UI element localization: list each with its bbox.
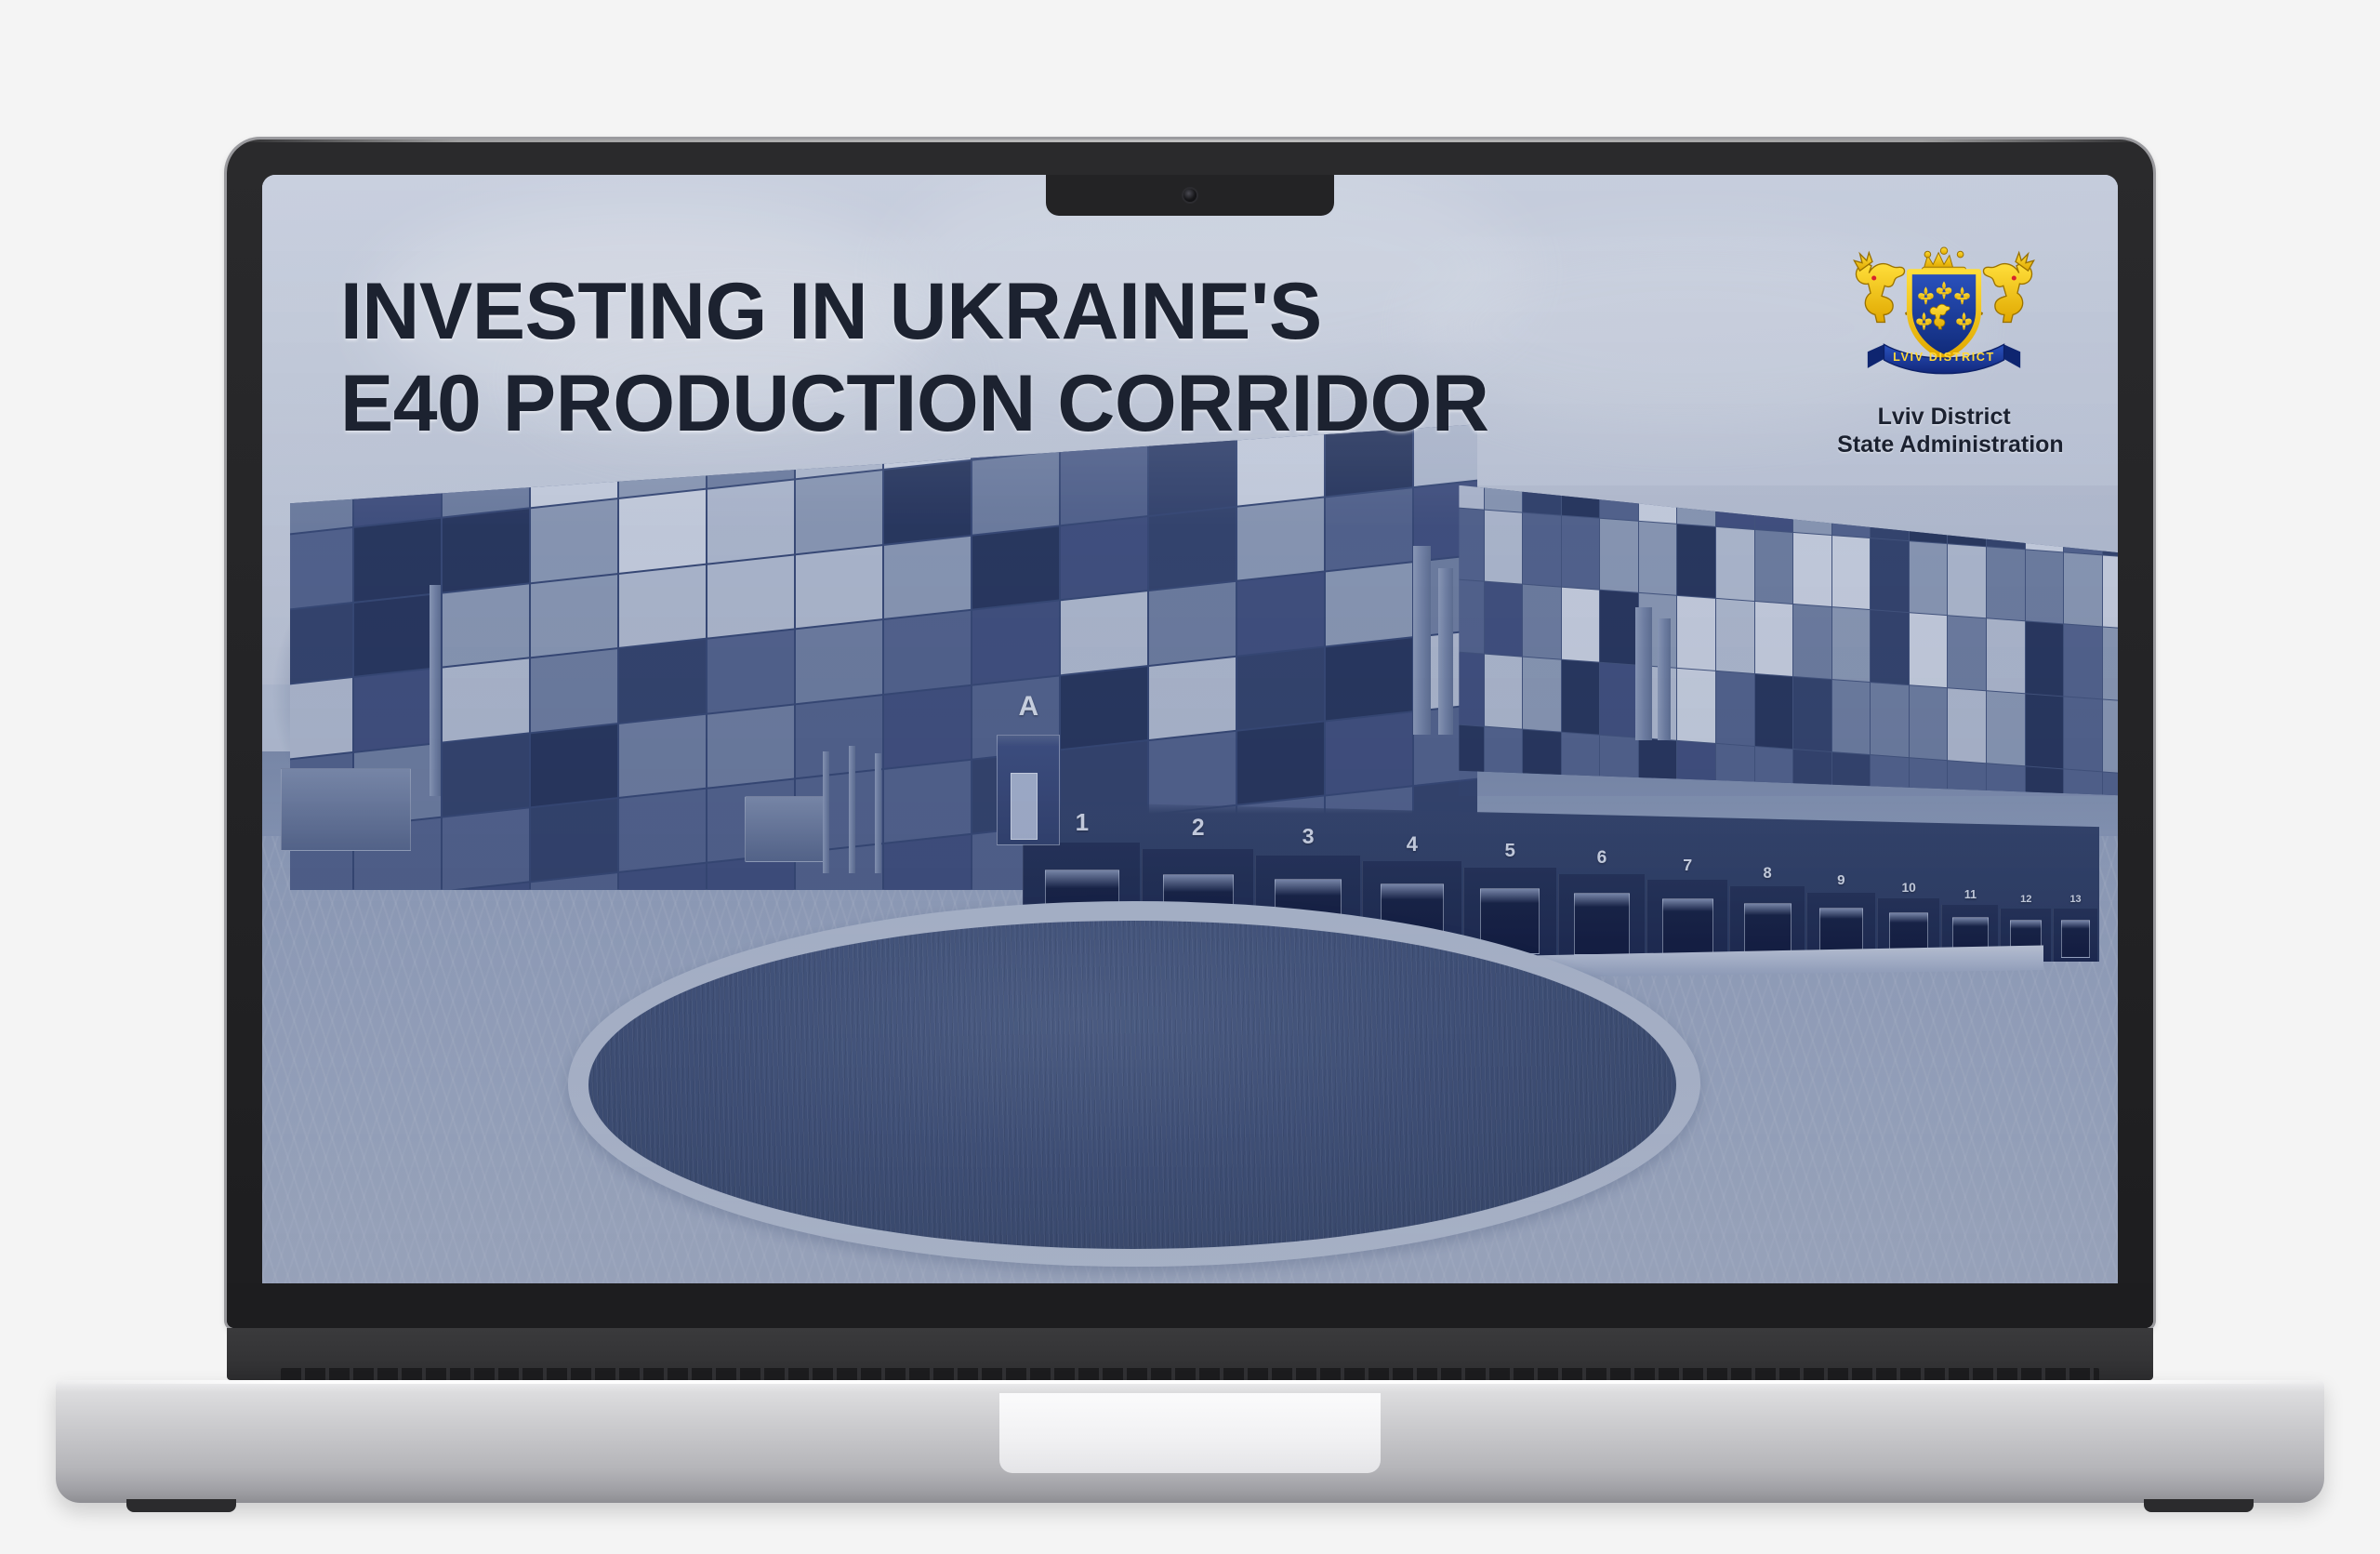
dock-label: 3 (1302, 824, 1315, 849)
facade-panel (290, 678, 352, 760)
facade-panel (1716, 671, 1754, 746)
facade-panel (2026, 766, 2064, 796)
facade-panel (1871, 683, 1909, 757)
facade-panel (1832, 485, 1871, 538)
wing-panel-grid (1459, 485, 2118, 796)
headline-line-1: INVESTING IN UKRAINE'S (340, 267, 1322, 356)
facade-panel (532, 724, 618, 806)
facade-panel (1327, 638, 1413, 720)
lawn-island (588, 921, 1676, 1249)
facade-panel (620, 565, 707, 647)
facade-panel (797, 696, 883, 777)
facade-panel (1677, 525, 1715, 599)
facade-panel (1327, 488, 1413, 570)
facade-panel (1987, 764, 2025, 796)
facade-panel (2064, 552, 2102, 627)
facade-panel (1600, 518, 1638, 592)
facade-panel (354, 445, 441, 526)
dock-label: 2 (1192, 816, 1205, 842)
personnel-door-a: A (997, 735, 1060, 845)
facade-panel (2026, 550, 2064, 624)
facade-panel (1485, 582, 1523, 657)
dock-shelter-opening (1744, 903, 1792, 956)
emblem-org-line-1: Lviv District (1837, 403, 2051, 432)
facade-panel (1150, 508, 1236, 590)
facade-panel (1755, 747, 1793, 796)
facade-panel (1755, 530, 1793, 604)
facade-panel (797, 546, 883, 628)
facade-panel (2064, 769, 2102, 796)
facade-panel (1459, 485, 1483, 509)
roof-ladder (430, 585, 441, 795)
facade-panel (443, 808, 529, 889)
facade-panel (620, 790, 707, 871)
facade-panel (2103, 772, 2118, 795)
facade-panel (1062, 443, 1148, 525)
vent-stack (1635, 607, 1652, 740)
facade-panel (708, 705, 795, 787)
facade-panel (1485, 726, 1523, 795)
facade-panel (532, 649, 618, 731)
facade-panel (1793, 485, 1831, 535)
facade-panel (1238, 647, 1325, 729)
facade-panel (1871, 755, 1909, 796)
slide-headline: INVESTING IN UKRAINE'S E40 PRODUCTION CO… (340, 266, 1489, 452)
facade-panel (1523, 729, 1561, 795)
dock-label: 4 (1407, 832, 1418, 857)
facade-panel (532, 799, 618, 881)
facade-panel (1832, 607, 1871, 682)
facade-panel (1832, 752, 1871, 796)
webcam-icon (1183, 189, 1197, 202)
facade-panel (620, 640, 707, 722)
facade-panel (2064, 485, 2102, 554)
facade-panel (973, 602, 1060, 684)
facade-panel (1987, 691, 2025, 765)
facade-panel (885, 761, 972, 843)
keyboard-edge (281, 1368, 2099, 1380)
vent-stack (1658, 618, 1671, 740)
base-foot-right (2144, 1499, 2254, 1512)
dock-label: 12 (2020, 894, 2031, 905)
facade-panel (1562, 732, 1600, 795)
facade-panel (885, 685, 972, 767)
vent-stack (1438, 568, 1453, 735)
facade-panel (1871, 538, 1909, 613)
facade-panel (2103, 628, 2118, 702)
facade-panel (1562, 660, 1600, 735)
facade-panel (1062, 667, 1148, 749)
dock-label-a: A (1018, 691, 1038, 723)
presentation-slide: 12345678910111213 A (262, 175, 2118, 1283)
facade-panel (1238, 573, 1325, 655)
facade-panel (1459, 507, 1483, 581)
facade-panel (290, 604, 352, 685)
screenshot-stage: 12345678910111213 A (0, 0, 2380, 1554)
laptop-screen: 12345678910111213 A (262, 175, 2118, 1283)
facade-panel (1948, 761, 1986, 796)
dock-label: 9 (1837, 872, 1844, 888)
facade-panel (443, 584, 529, 666)
facade-panel (1327, 712, 1413, 794)
facade-panel (1793, 604, 1831, 679)
facade-panel (1677, 485, 1715, 526)
facade-panel (1150, 657, 1236, 738)
facade-panel (1459, 579, 1483, 654)
facade-panel (1523, 512, 1561, 587)
facade-panel (1327, 563, 1413, 644)
facade-panel (2103, 699, 2118, 774)
dock-label: 13 (2069, 894, 2081, 905)
facade-panel (354, 669, 441, 750)
facade-panel (2026, 694, 2064, 768)
facade-panel (1755, 602, 1793, 676)
facade-panel (1523, 657, 1561, 732)
facade-panel (2103, 555, 2118, 630)
facade-panel (2064, 625, 2102, 699)
facade-panel (797, 620, 883, 702)
warehouse-wing (1459, 485, 2118, 796)
facade-panel (1910, 485, 1948, 543)
facade-panel (443, 734, 529, 816)
facade-panel (1987, 485, 2025, 549)
facade-panel (1600, 485, 1638, 521)
facade-panel (1562, 588, 1600, 662)
facade-panel (1716, 485, 1754, 529)
dock-label: 1 (1076, 808, 1089, 837)
facade-panel (2026, 485, 2064, 551)
facade-panel (1910, 758, 1948, 796)
dock-label: 7 (1683, 856, 1692, 875)
dock-label: 8 (1763, 864, 1771, 883)
emblem-org-line-2: State Administration (1837, 431, 2051, 459)
facade-panel (1871, 485, 1909, 540)
facade-panel (1832, 536, 1871, 610)
loading-dock-bay: 7 (1646, 880, 1727, 962)
loading-dock-bay: 6 (1558, 874, 1646, 963)
facade-panel (1832, 680, 1871, 754)
pole (849, 746, 855, 873)
facade-panel (1062, 591, 1148, 673)
dock-label: 11 (1964, 888, 1977, 901)
facade-panel (1948, 544, 1986, 618)
facade-panel (1948, 485, 1986, 546)
loading-dock-bay: 13 (2053, 909, 2097, 963)
facade-panel (443, 659, 529, 741)
facade-panel (708, 481, 795, 563)
facade-panel (620, 714, 707, 796)
facade-panel (532, 500, 618, 582)
facade-panel (1562, 485, 1600, 518)
facade-panel (1793, 677, 1831, 751)
facade-panel (1485, 655, 1523, 729)
vent-stack (1413, 546, 1432, 735)
facade-panel (1793, 750, 1831, 796)
facade-panel (885, 611, 972, 693)
facade-panel (1948, 617, 1986, 691)
facade-panel (1485, 510, 1523, 584)
facade-panel (1677, 669, 1715, 743)
facade-panel (885, 461, 972, 543)
headline-line-2: E40 PRODUCTION CORRIDOR (340, 358, 1489, 451)
facade-panel (708, 555, 795, 637)
screen-notch (1046, 175, 1334, 216)
facade-panel (1793, 533, 1831, 607)
facade-panel (620, 490, 707, 572)
organization-emblem: LVIV DISTRICT Lviv District State Admini… (1837, 237, 2051, 459)
base-front-notch (999, 1393, 1381, 1473)
facade-panel (1523, 485, 1561, 515)
facade-panel (973, 452, 1060, 534)
dock-label: 6 (1597, 848, 1607, 869)
facade-panel (1238, 723, 1325, 804)
facade-panel (443, 510, 529, 591)
facade-panel (1755, 674, 1793, 749)
transformer-cabinet (745, 796, 826, 863)
facade-panel (1062, 517, 1148, 599)
facade-panel (1910, 614, 1948, 688)
facade-panel (1459, 724, 1483, 795)
emblem-banner-text: LVIV DISTRICT (1893, 350, 1995, 364)
facade-panel (1871, 610, 1909, 684)
facade-panel (2026, 622, 2064, 697)
facade-panel (1910, 541, 1948, 616)
facade-panel (1639, 485, 1677, 524)
facade-panel (354, 519, 441, 601)
facade-panel (1600, 663, 1638, 737)
facade-panel (2103, 485, 2118, 557)
facade-panel (290, 454, 352, 536)
facade-panel (973, 526, 1060, 608)
facade-panel (1987, 547, 2025, 621)
facade-panel (1600, 735, 1638, 795)
facade-panel (1485, 485, 1523, 512)
dock-shelter-opening (1574, 893, 1629, 954)
facade-panel (1238, 498, 1325, 579)
facade-panel (1562, 515, 1600, 590)
facade-panel (1639, 522, 1677, 596)
facade-panel (885, 537, 972, 618)
facade-panel (797, 472, 883, 553)
laptop-lid: 12345678910111213 A (227, 139, 2153, 1328)
facade-panel (1150, 582, 1236, 664)
facade-panel (1910, 685, 1948, 760)
facade-panel (532, 575, 618, 657)
facade-panel (290, 529, 352, 611)
dock-shelter-opening (2061, 920, 2089, 957)
facade-panel (1987, 619, 2025, 694)
facade-panel (1716, 527, 1754, 602)
facade-panel (354, 594, 441, 676)
facade-panel (1948, 688, 1986, 763)
dock-shelter-opening (1662, 898, 1713, 956)
lid-bottom-bezel (227, 1283, 2153, 1328)
utility-building (281, 768, 411, 851)
dock-label: 10 (1901, 880, 1915, 895)
pole (875, 753, 881, 873)
laptop-mockup: 12345678910111213 A (227, 139, 2153, 1503)
lviv-district-coat-of-arms-icon: LVIV DISTRICT (1853, 237, 2035, 403)
facade-panel (2064, 697, 2102, 771)
facade-panel (1677, 596, 1715, 671)
facade-panel (1677, 740, 1715, 795)
pole (823, 751, 829, 873)
laptop-hinge (227, 1328, 2153, 1380)
facade-panel (1755, 485, 1793, 532)
facade-panel (1523, 585, 1561, 659)
facade-panel (1716, 599, 1754, 673)
dock-label: 5 (1504, 840, 1514, 862)
base-foot-left (126, 1499, 236, 1512)
facade-panel (885, 835, 972, 890)
facade-panel (1639, 737, 1677, 795)
facade-panel (708, 631, 795, 712)
laptop-base (56, 1380, 2324, 1503)
facade-panel (1459, 651, 1483, 725)
facade-panel (1716, 743, 1754, 795)
facade-panel (1600, 591, 1638, 665)
